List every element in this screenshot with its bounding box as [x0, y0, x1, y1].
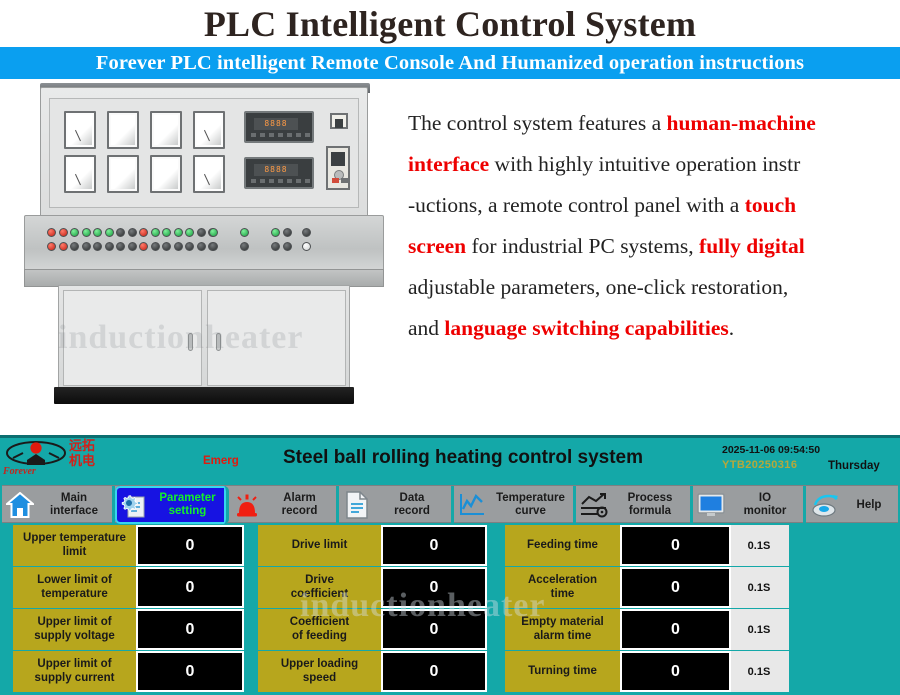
param-value[interactable]: 0: [381, 609, 487, 650]
param-label: Empty materialalarm time: [505, 609, 620, 650]
tab-process-formula[interactable]: Processformula: [576, 486, 693, 524]
hmi-header: 远拓 机电 Forever Emerg Steel ball rolling h…: [0, 435, 900, 485]
chart-line-icon: [457, 490, 487, 520]
tab-label-line1: Main: [61, 492, 87, 504]
parameter-row: Upper temperaturelimit 0 Drive limit 0 F…: [0, 525, 900, 566]
analog-meter: [150, 155, 182, 193]
tab-label-line1: Process: [628, 492, 673, 504]
param-value[interactable]: 0: [136, 525, 244, 566]
hmi-toolbar: Maininterface Parametersettin: [2, 485, 898, 523]
tab-label-line1: IO: [759, 492, 771, 504]
analog-meter: [107, 155, 139, 193]
param-label: Upper limit ofsupply voltage: [13, 609, 136, 650]
param-value[interactable]: 0: [620, 525, 731, 566]
door-handle: [188, 333, 193, 351]
desc-hl-human-machine: human-machine: [667, 111, 816, 135]
param-unit: 0.1S: [731, 651, 789, 692]
analog-meter: [150, 111, 182, 149]
pushbutton-row: [139, 242, 217, 251]
param-upper-loading-speed[interactable]: Upper loadingspeed 0: [258, 651, 487, 692]
pushbutton-row: [209, 228, 311, 237]
param-value[interactable]: 0: [381, 651, 487, 692]
param-upper-limit-of-supply-current[interactable]: Upper limit ofsupply current 0: [13, 651, 244, 692]
analog-meter: [107, 111, 139, 149]
param-value[interactable]: 0: [381, 525, 487, 566]
param-label: Upper temperaturelimit: [13, 525, 136, 566]
desc-line4b: for industrial PC systems,: [466, 234, 699, 258]
param-lower-limit-of-temperature[interactable]: Lower limit oftemperature 0: [13, 567, 244, 608]
tab-label-line2: record: [394, 505, 430, 517]
param-coefficient-of-feeding[interactable]: Coefficientof feeding 0: [258, 609, 487, 650]
tab-label-line2: curve: [515, 505, 546, 517]
company-logo: 远拓 机电 Forever: [3, 440, 115, 480]
tab-label-line1: Help: [857, 499, 882, 511]
param-label: Feeding time: [505, 525, 620, 566]
param-unit: 0.1S: [731, 609, 789, 650]
tab-label-line2: monitor: [744, 505, 787, 517]
desc-hl-language-switching: language switching capabilities: [444, 316, 728, 340]
home-icon: [5, 490, 35, 520]
tab-label-line1: Alarm: [283, 492, 316, 504]
param-feeding-time[interactable]: Feeding time 0 0.1S: [505, 525, 789, 566]
cabinet-base: [54, 387, 354, 404]
alarm-bell-icon: [232, 490, 262, 520]
console-photo: 8888 8888: [0, 79, 400, 435]
tab-label-line1: Temperature: [496, 492, 565, 504]
desc-line5: adjustable parameters, one-click restora…: [408, 275, 788, 299]
param-value[interactable]: 0: [620, 609, 731, 650]
instrument-cabinet: 8888 8888: [40, 87, 368, 217]
tab-data-record[interactable]: Datarecord: [339, 486, 454, 524]
parameter-row: Lower limit oftemperature 0 Drivecoeffic…: [0, 567, 900, 608]
param-value[interactable]: 0: [136, 567, 244, 608]
logo-brand-word: Forever: [3, 466, 36, 477]
param-drive-coefficient[interactable]: Drivecoefficient 0: [258, 567, 487, 608]
cabinet-door-left: [63, 290, 202, 386]
param-label: Accelerationtime: [505, 567, 620, 608]
desc-line6c: .: [729, 316, 734, 340]
tab-label-line2: setting: [169, 505, 207, 517]
param-label: Upper loadingspeed: [258, 651, 381, 692]
subtitle-text: Forever PLC intelligent Remote Console A…: [96, 52, 804, 75]
tab-temperature-curve[interactable]: Temperaturecurve: [454, 486, 576, 524]
console-illustration: 8888 8888: [18, 79, 393, 419]
door-handle: [216, 333, 221, 351]
param-turning-time[interactable]: Turning time 0 0.1S: [505, 651, 789, 692]
param-label: Coefficientof feeding: [258, 609, 381, 650]
desc-hl-touch: touch: [745, 193, 796, 217]
product-section: 8888 8888: [0, 79, 900, 435]
param-acceleration-time[interactable]: Accelerationtime 0 0.1S: [505, 567, 789, 608]
vfd-keypad: [326, 146, 350, 190]
hmi-weekday: Thursday: [828, 460, 880, 472]
tab-label-line1: Data: [400, 492, 425, 504]
pushbutton-row: [47, 242, 137, 251]
tab-label-line2: record: [282, 505, 318, 517]
hmi-screen: 远拓 机电 Forever Emerg Steel ball rolling h…: [0, 435, 900, 695]
desc-line3a: -uctions, a remote control panel with a: [408, 193, 745, 217]
hmi-screen-title: Steel ball rolling heating control syste…: [283, 447, 643, 469]
param-label: Drive limit: [258, 525, 381, 566]
param-empty-material-alarm-time[interactable]: Empty materialalarm time 0 0.1S: [505, 609, 789, 650]
cabinet-door-right: [207, 290, 346, 386]
pushbutton-row: [209, 242, 311, 251]
desc-hl-interface: interface: [408, 152, 489, 176]
subtitle-banner: Forever PLC intelligent Remote Console A…: [0, 47, 900, 79]
param-value[interactable]: 0: [136, 609, 244, 650]
document-icon: [342, 490, 372, 520]
tab-main-interface[interactable]: Maininterface: [2, 486, 115, 524]
param-value[interactable]: 0: [620, 567, 731, 608]
param-value[interactable]: 0: [620, 651, 731, 692]
operator-desk: [24, 215, 384, 277]
tab-label-line2: formula: [629, 505, 671, 517]
pushbutton-row: [139, 228, 217, 237]
param-upper-temperature-limit[interactable]: Upper temperaturelimit 0: [13, 525, 244, 566]
param-unit: 0.1S: [731, 567, 789, 608]
parameter-row: Upper limit ofsupply voltage 0 Coefficie…: [0, 609, 900, 650]
hmi-model-number: YTB20250316: [722, 459, 797, 471]
param-label: Turning time: [505, 651, 620, 692]
gear-icon: [118, 490, 148, 520]
parameter-grid: Upper temperaturelimit 0 Drive limit 0 F…: [0, 525, 900, 693]
desc-hl-fully-digital: fully digital: [699, 234, 805, 258]
monitor-icon: [696, 490, 726, 520]
digital-controller: 8888: [244, 157, 314, 189]
process-icon: [579, 490, 609, 520]
logo-chinese-top: 远拓: [69, 440, 95, 454]
lower-cabinet: [58, 285, 350, 389]
tab-label-line2: interface: [50, 505, 98, 517]
hmi-datetime: 2025-11-06 09:54:50: [722, 444, 820, 456]
tab-parameter-setting[interactable]: Parametersetting: [115, 486, 229, 524]
param-value[interactable]: 0: [381, 567, 487, 608]
param-upper-limit-of-supply-voltage[interactable]: Upper limit ofsupply voltage 0: [13, 609, 244, 650]
param-label: Upper limit ofsupply current: [13, 651, 136, 692]
param-unit: 0.1S: [731, 525, 789, 566]
instrument-panel: 8888 8888: [49, 98, 359, 208]
tab-io-monitor[interactable]: IOmonitor: [693, 486, 806, 524]
analog-meter: [193, 111, 225, 149]
page-title: PLC Intelligent Control System: [0, 0, 900, 47]
pushbutton-row: [283, 242, 292, 251]
tab-help[interactable]: Help: [806, 486, 898, 524]
indicator-module: [330, 113, 348, 129]
pushbutton-row: [283, 228, 292, 237]
forever-logo-icon: [5, 441, 67, 468]
analog-meter: [193, 155, 225, 193]
emergency-label[interactable]: Emerg: [203, 455, 239, 467]
param-value[interactable]: 0: [136, 651, 244, 692]
parameter-row: Upper limit ofsupply current 0 Upper loa…: [0, 651, 900, 692]
tab-label-line1: Parameter: [159, 492, 215, 504]
desc-line2b: with highly intuitive operation instr: [489, 152, 800, 176]
param-drive-limit[interactable]: Drive limit 0: [258, 525, 487, 566]
pushbutton-row: [47, 228, 137, 237]
telephone-icon: [809, 490, 839, 520]
digital-controller: 8888: [244, 111, 314, 143]
analog-meter: [64, 155, 96, 193]
desc-hl-screen: screen: [408, 234, 466, 258]
description-text: The control system features a human-mach…: [400, 79, 900, 435]
logo-chinese-bottom: 机电: [69, 455, 95, 469]
param-label: Lower limit oftemperature: [13, 567, 136, 608]
param-label: Drivecoefficient: [258, 567, 381, 608]
analog-meter: [64, 111, 96, 149]
desc-line1a: The control system features a: [408, 111, 667, 135]
tab-alarm-record[interactable]: Alarmrecord: [229, 486, 339, 524]
page-root: PLC Intelligent Control System Forever P…: [0, 0, 900, 695]
desc-line6a: and: [408, 316, 444, 340]
